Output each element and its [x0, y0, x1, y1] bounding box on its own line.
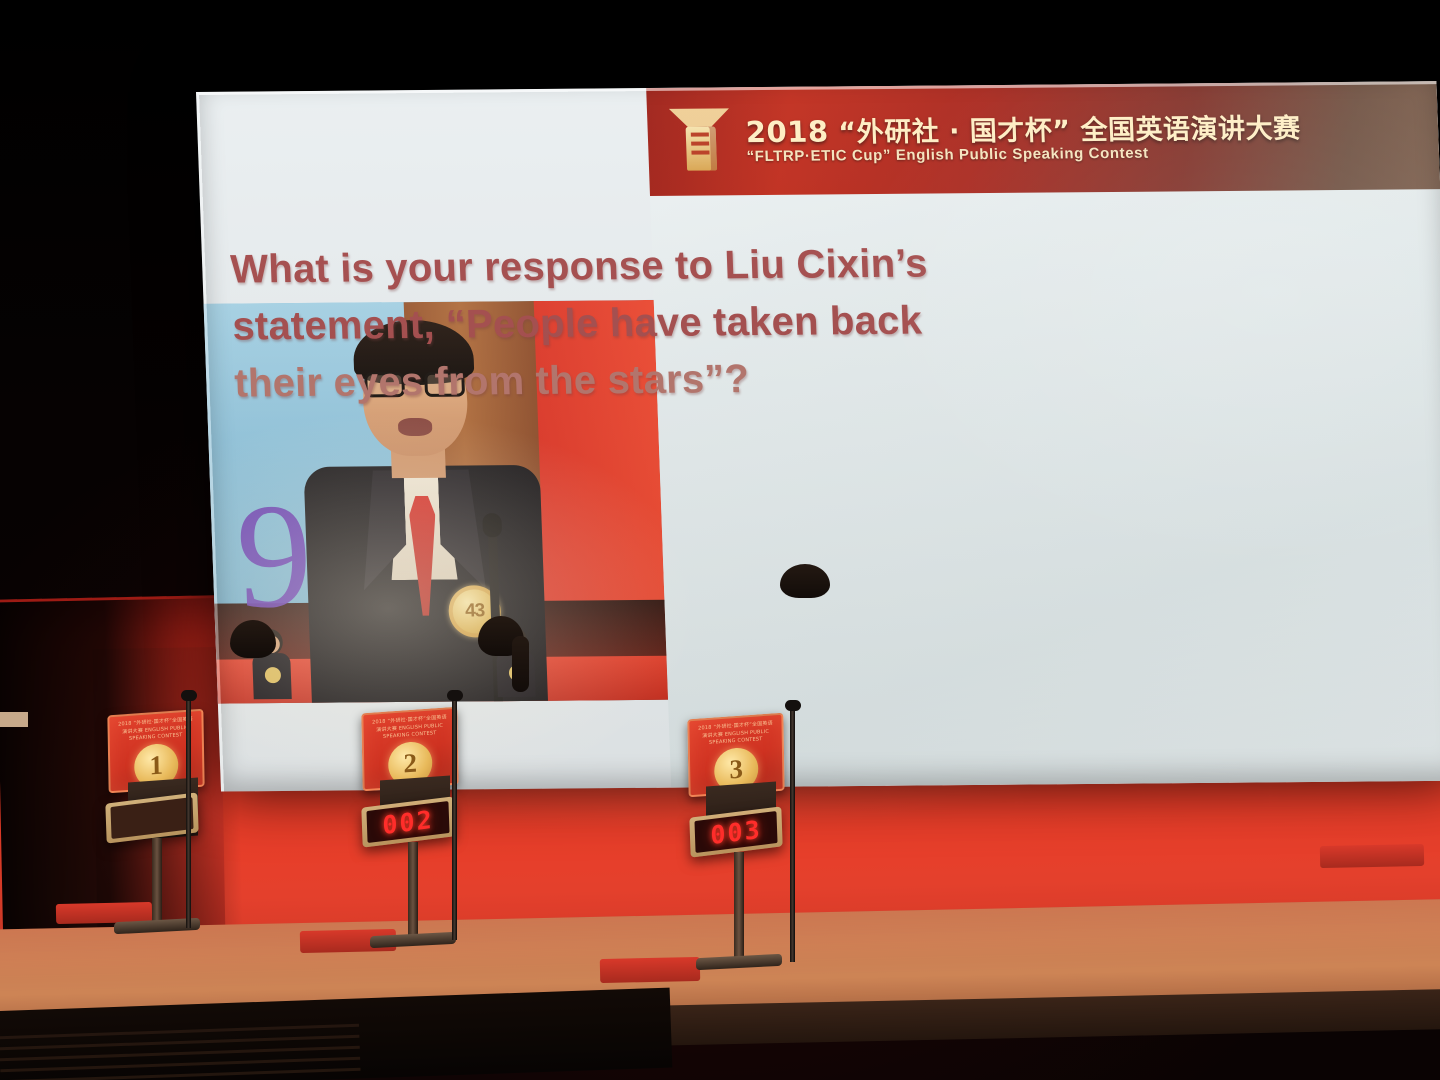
- contestant-3-tie: [0, 268, 12, 318]
- contestant-3-shoe-right: [0, 974, 40, 990]
- podium-1-stand: [152, 838, 162, 924]
- question-line-3: their eyes from the stars”?: [233, 349, 965, 412]
- slide-question-text: What is your response to Liu Cixin’s sta…: [229, 235, 965, 412]
- question-line-1: What is your response to Liu Cixin’s: [229, 235, 961, 298]
- fltrp-cup-emblem-icon: [669, 104, 734, 178]
- contestant-3-neck: [0, 52, 20, 68]
- podium-3-caption: 2018 “外研社·国才杯”全国英语演讲大赛 ENGLISH PUBLIC SP…: [696, 720, 775, 748]
- contestant-3-hands: [0, 520, 22, 534]
- contestant-3-torso: [0, 68, 86, 224]
- podium-1-microphone-icon: [181, 690, 197, 701]
- banner-english-title: “FLTRP·ETIC Cup” English Public Speaking…: [746, 144, 1301, 164]
- podium-2-mic-stand: [452, 700, 457, 940]
- contestant-3-leg-left: [0, 560, 34, 758]
- contestant-3: [0, 0, 86, 990]
- contest-title-banner: 2018 “外研社 · 国才杯” 全国英语演讲大赛 “FLTRP·ETIC Cu…: [646, 81, 1440, 196]
- podium-3-stand: [734, 852, 744, 960]
- podium-2-microphone-icon: [447, 690, 463, 701]
- contestant-3-leg-right: [0, 758, 34, 958]
- podium-2-stand: [408, 842, 418, 938]
- contestant-2-ponytail: [512, 636, 529, 692]
- floor-carpet-pad-4: [1320, 844, 1424, 868]
- podium-1-mic-stand: [186, 700, 191, 928]
- banner-year: 2018: [745, 114, 829, 149]
- slide-countdown-number: 9: [234, 489, 314, 625]
- banner-chinese-title: 2018 “外研社 · 国才杯” 全国英语演讲大赛: [745, 113, 1301, 147]
- stage-photograph: 43 2018 “外研社 · 国才杯” 全国英语演讲大赛: [0, 0, 1440, 1080]
- banner-text-block: 2018 “外研社 · 国才杯” 全国英语演讲大赛 “FLTRP·ETIC Cu…: [745, 113, 1301, 165]
- contestant-3-head: [0, 0, 42, 52]
- banner-chinese-name: “外研社 · 国才杯” 全国英语演讲大赛: [838, 113, 1301, 148]
- question-line-2: statement, “People have taken back: [231, 292, 963, 355]
- contestant-3-arm-left: [0, 318, 20, 416]
- contestant-3-hair: [780, 564, 830, 598]
- floor-carpet-pad-3: [600, 957, 700, 983]
- podium-1-caption: 2018 “外研社·国才杯”全国英语演讲大赛 ENGLISH PUBLIC SP…: [116, 716, 195, 744]
- podium-3-microphone-icon: [785, 700, 801, 711]
- podium-2-caption: 2018 “外研社·国才杯”全国英语演讲大赛 ENGLISH PUBLIC SP…: [370, 714, 449, 742]
- podium-3-mic-stand: [790, 710, 795, 962]
- contestant-3-shoe-left: [0, 958, 40, 974]
- contestant-3-arm-right: [0, 416, 20, 520]
- contestant-3-badge: [0, 534, 26, 560]
- contestant-3-shirt: [0, 224, 26, 268]
- projection-screen: 43 2018 “外研社 · 国才杯” 全国英语演讲大赛: [196, 81, 1440, 791]
- video-speaker-mouth: [398, 418, 433, 436]
